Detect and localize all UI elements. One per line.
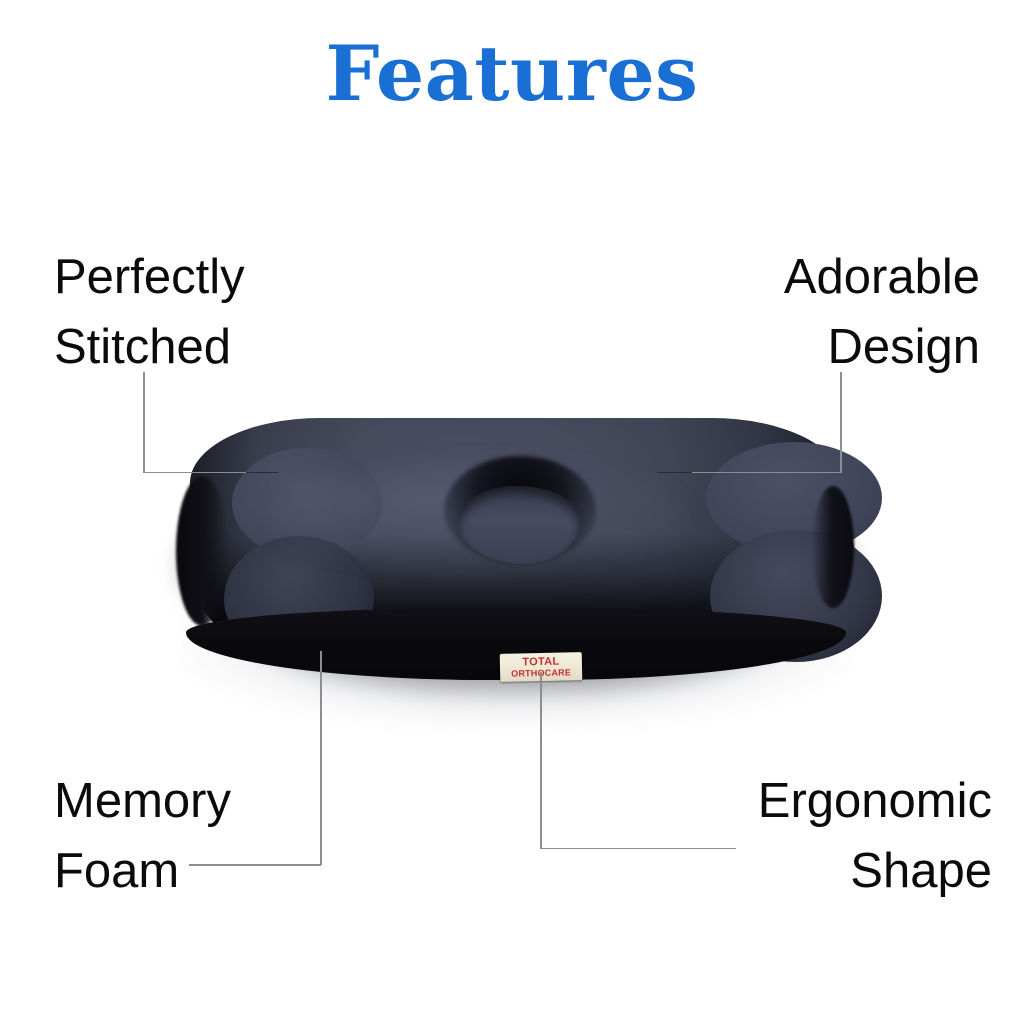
connector-perfectly-stitched-tip bbox=[246, 472, 278, 474]
connector-ergonomic-shape-horizontal bbox=[540, 848, 736, 850]
connector-perfectly-stitched-vertical bbox=[143, 372, 145, 473]
feature-label-adorable-design: Adorable Design bbox=[784, 243, 980, 382]
feature-infographic-page: Features TOTAL ORTHOCARE Perfectly St bbox=[0, 0, 1024, 1024]
feature-label-memory-foam: Memory Foam bbox=[54, 767, 231, 906]
connector-adorable-design-tip bbox=[658, 472, 692, 474]
brand-tag-line-1: TOTAL bbox=[522, 656, 559, 668]
connector-adorable-design-vertical bbox=[840, 372, 842, 473]
connector-memory-foam-vertical bbox=[320, 651, 322, 865]
page-title: Features bbox=[0, 36, 1024, 112]
cushion-right-side-panel bbox=[812, 486, 854, 608]
product-image: TOTAL ORTHOCARE bbox=[150, 400, 880, 730]
connector-ergonomic-shape-vertical bbox=[540, 672, 542, 849]
cushion-left-side-panel bbox=[176, 476, 228, 626]
feature-label-ergonomic-shape: Ergonomic Shape bbox=[758, 767, 992, 906]
feature-label-perfectly-stitched: Perfectly Stitched bbox=[54, 243, 245, 382]
